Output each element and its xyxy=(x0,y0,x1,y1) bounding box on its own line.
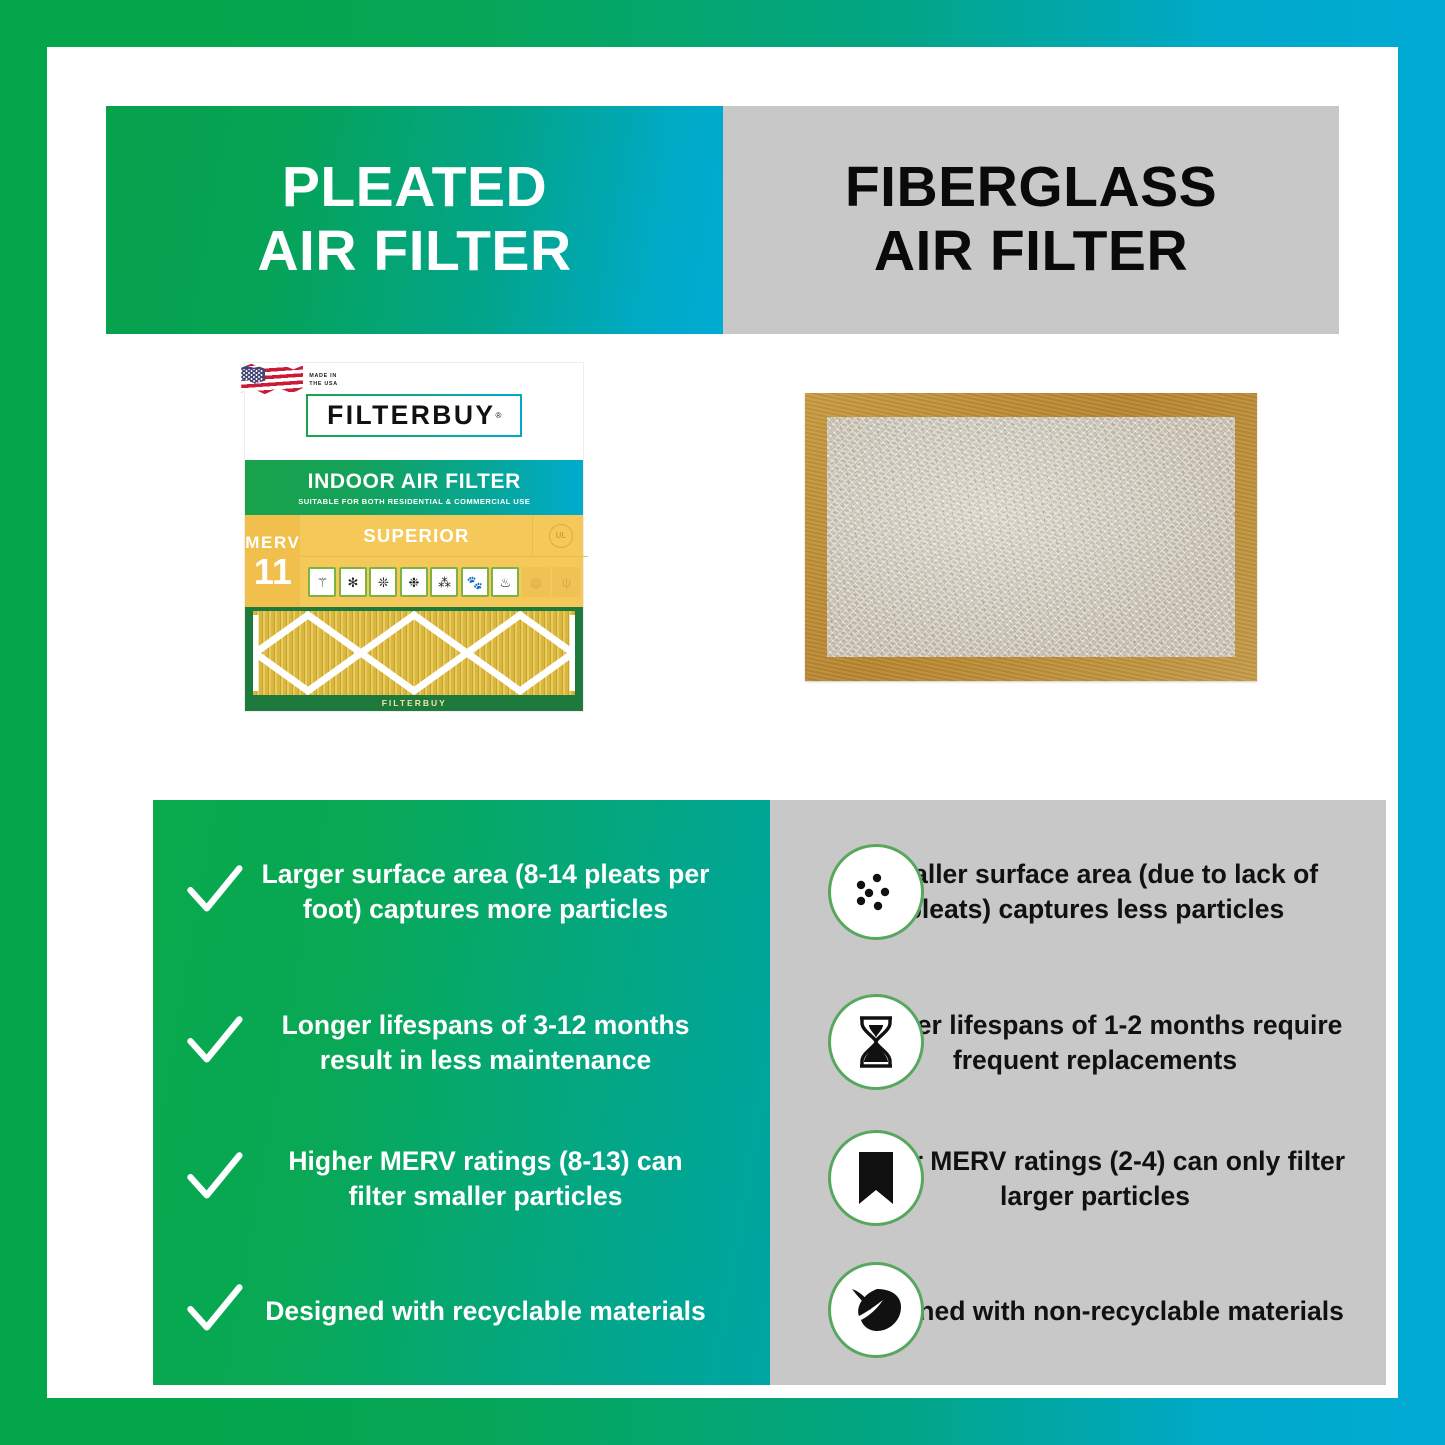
comparison-row: Longer lifespans of 3-12 months result i… xyxy=(153,982,1386,1104)
fiberglass-filter-image xyxy=(805,393,1257,681)
box-mid-right: SUPERIOR UL ⚚ ✻ ❊ ❉ ⁂ 🐾 ♨ xyxy=(300,515,588,607)
header-pleated-line2: AIR FILTER xyxy=(257,220,571,284)
header-fiberglass-line2: AIR FILTER xyxy=(845,220,1217,284)
row-left-3: Higher MERV ratings (8-13) can filter sm… xyxy=(153,1144,770,1214)
merv-block: MERV 11 xyxy=(245,515,300,607)
bacteria-faded-icon: ◍ xyxy=(522,567,550,597)
pet-dander-icon: 🐾 xyxy=(461,567,489,597)
smoke-icon: ♨ xyxy=(491,567,519,597)
registered-mark: ® xyxy=(495,411,501,420)
row-left-text-3: Higher MERV ratings (8-13) can filter sm… xyxy=(259,1144,770,1214)
row-left-text-2: Longer lifespans of 3-12 months result i… xyxy=(259,1008,770,1078)
dust-mite-icon: ✻ xyxy=(339,567,367,597)
check-icon xyxy=(183,861,245,923)
particles-icon xyxy=(828,844,924,940)
check-icon xyxy=(183,1012,245,1074)
row-left-1: Larger surface area (8-14 pleats per foo… xyxy=(153,857,770,927)
bookmark-icon xyxy=(828,1130,924,1226)
pleated-product-cell: MADE IN THE USA FILTERBUY® INDOOR AIR FI… xyxy=(106,334,723,740)
fiberglass-product-cell xyxy=(723,334,1340,740)
row-left-text-1: Larger surface area (8-14 pleats per foo… xyxy=(259,857,770,927)
merv-value: 11 xyxy=(254,554,292,590)
hourglass-icon xyxy=(828,994,924,1090)
box-top-section: MADE IN THE USA FILTERBUY® xyxy=(245,363,583,460)
box-band: INDOOR AIR FILTER SUITABLE FOR BOTH RESI… xyxy=(245,460,583,515)
comparison-row: Higher MERV ratings (8-13) can filter sm… xyxy=(153,1118,1386,1240)
check-icon xyxy=(183,1280,245,1342)
ul-badge-wrap: UL xyxy=(532,515,588,556)
usa-flag-icon xyxy=(241,363,303,403)
infographic-card: PLEATED AIR FILTER FIBERGLASS AIR FILTER xyxy=(47,47,1398,1398)
header-pleated-title: PLEATED AIR FILTER xyxy=(257,156,571,284)
row-left-text-4: Designed with recyclable materials xyxy=(259,1294,770,1329)
header-fiberglass-line1: FIBERGLASS xyxy=(845,156,1217,220)
ul-certification-icon: UL xyxy=(549,524,573,548)
header-pleated-line1: PLEATED xyxy=(257,156,571,220)
header-band: PLEATED AIR FILTER FIBERGLASS AIR FILTER xyxy=(106,106,1339,334)
tier-label: SUPERIOR xyxy=(300,525,532,547)
comparison-row: Designed with recyclable materials Desig… xyxy=(153,1252,1386,1370)
leaf-eco-icon xyxy=(828,1262,924,1358)
flag-stars xyxy=(239,369,263,385)
header-fiberglass-title: FIBERGLASS AIR FILTER xyxy=(845,156,1217,284)
tier-row: SUPERIOR UL xyxy=(300,515,588,557)
made-in-line2: THE USA xyxy=(309,380,338,388)
made-in-line1: MADE IN xyxy=(309,372,338,380)
merv-label: MERV xyxy=(245,533,300,553)
virus-faded-icon: ψ xyxy=(552,567,580,597)
check-icon xyxy=(183,1148,245,1210)
made-in-usa-label: MADE IN THE USA xyxy=(309,372,338,389)
box-band-title: INDOOR AIR FILTER xyxy=(308,470,521,494)
filterbuy-logo-text: FILTERBUY xyxy=(327,400,495,431)
fiberglass-media-texture xyxy=(827,417,1235,657)
pollen-icon: ❊ xyxy=(369,567,397,597)
row-left-2: Longer lifespans of 3-12 months result i… xyxy=(153,1008,770,1078)
flag-canton xyxy=(239,365,265,385)
box-footer-brand: FILTERBUY xyxy=(245,695,583,711)
mold-spore-icon: ❉ xyxy=(400,567,428,597)
lint-icon: ⚚ xyxy=(308,567,336,597)
bacteria-icon: ⁂ xyxy=(430,567,458,597)
comparison-rows: Larger surface area (8-14 pleats per foo… xyxy=(153,800,1386,1385)
product-images-row: MADE IN THE USA FILTERBUY® INDOOR AIR FI… xyxy=(106,334,1339,740)
row-left-4: Designed with recyclable materials xyxy=(153,1280,770,1342)
box-middle-section: MERV 11 SUPERIOR UL ⚚ ✻ ❊ xyxy=(245,515,583,607)
header-fiberglass: FIBERGLASS AIR FILTER xyxy=(723,106,1339,334)
comparison-panel: Larger surface area (8-14 pleats per foo… xyxy=(153,800,1386,1385)
comparison-row: Larger surface area (8-14 pleats per foo… xyxy=(153,816,1386,968)
diamond-support-grid xyxy=(253,611,575,695)
filterbuy-logo: FILTERBUY® xyxy=(306,394,522,437)
header-pleated: PLEATED AIR FILTER xyxy=(106,106,723,334)
box-band-subtitle: SUITABLE FOR BOTH RESIDENTIAL & COMMERCI… xyxy=(298,497,530,506)
feature-icons-row: ⚚ ✻ ❊ ❉ ⁂ 🐾 ♨ ◍ ψ xyxy=(300,557,588,607)
filterbuy-box-image: MADE IN THE USA FILTERBUY® INDOOR AIR FI… xyxy=(245,363,583,711)
pleated-media-visual: FILTERBUY xyxy=(245,607,583,711)
